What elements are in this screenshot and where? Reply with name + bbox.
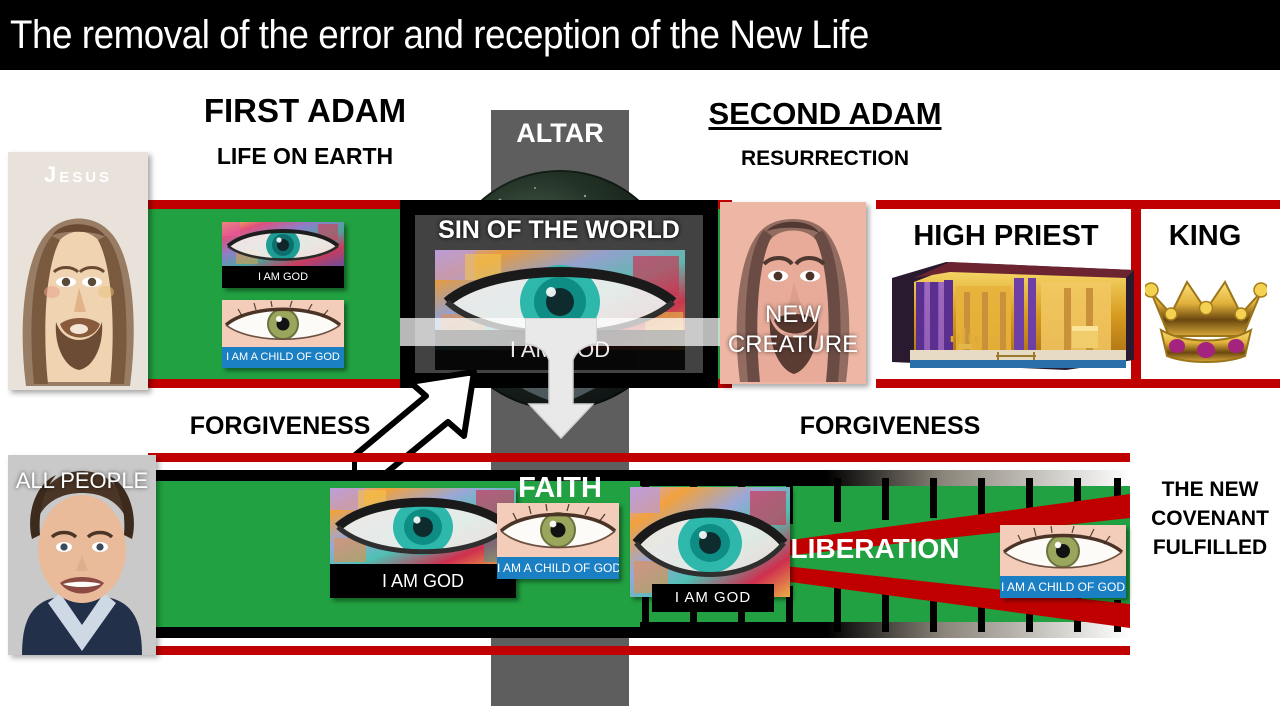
eye-caption: I AM A CHILD OF GOD (1000, 576, 1126, 598)
mosaic-eye-image (222, 222, 344, 266)
tabernacle-temple-image (886, 252, 1134, 372)
heading-first-adam: FIRST ADAM (150, 92, 460, 130)
forgiveness-label-right: FORGIVENESS (700, 412, 1080, 441)
heading-resurrection: RESURRECTION (660, 147, 990, 171)
eye-caption-bottom-center: I AM GOD (652, 584, 774, 612)
band-red-rail-top (148, 453, 1130, 462)
eye-caption: I AM GOD (330, 564, 516, 598)
eye-card-child-of-god-top: I AM A CHILD OF GOD (222, 300, 344, 368)
high-priest-label: HIGH PRIEST (886, 220, 1126, 253)
eye-card-mosaic-bottom-center (630, 487, 790, 597)
jesus-label: Jesus (8, 162, 148, 188)
new-covenant-label: THE NEW COVENANT FULFILLED (1140, 475, 1280, 562)
mosaic-eye-image (330, 488, 516, 564)
heading-second-adam: SECOND ADAM (660, 96, 990, 132)
jesus-watercolor-face (8, 196, 148, 390)
frame-red-rail-top (876, 200, 1280, 209)
liberation-label: LIBERATION (775, 533, 975, 565)
title-bar: The removal of the error and reception o… (0, 0, 1280, 70)
heading-life-on-earth: LIFE ON EARTH (150, 143, 460, 170)
altar-label: ALTAR (491, 118, 629, 149)
page-title: The removal of the error and reception o… (10, 4, 1114, 66)
faith-label: FAITH (491, 472, 629, 505)
eye-caption: I AM A CHILD OF GOD (222, 347, 344, 368)
down-arrow-icon (525, 318, 597, 440)
forgiveness-label-left: FORGIVENESS (130, 412, 430, 441)
new-creature-label: NEW CREATURE (720, 300, 866, 360)
band-red-rail-bottom (148, 646, 1130, 655)
sin-of-the-world-label: SIN OF THE WORLD (400, 216, 718, 245)
king-label: KING (1140, 220, 1270, 253)
eye-caption: I AM A CHILD OF GOD (497, 557, 619, 579)
frame-red-rail-bottom (876, 379, 1280, 388)
real-eye-image (222, 300, 344, 347)
mosaic-eye-image (630, 487, 790, 597)
crown-icon (1145, 258, 1267, 366)
all-people-label: ALL PEOPLE (8, 466, 156, 495)
eye-card-i-am-god-top: I AM GOD (222, 222, 344, 288)
eye-card-child-of-god-faith: I AM A CHILD OF GOD (497, 503, 619, 579)
jesus-portrait-card: Jesus (8, 152, 148, 390)
real-eye-image (1000, 525, 1126, 576)
eye-caption: I AM GOD (222, 266, 344, 288)
slide-canvas: The removal of the error and reception o… (0, 0, 1280, 720)
real-eye-image (497, 503, 619, 557)
eye-card-child-of-god-right: I AM A CHILD OF GOD (1000, 525, 1126, 598)
eye-card-i-am-god-bottom: I AM GOD (330, 488, 516, 598)
